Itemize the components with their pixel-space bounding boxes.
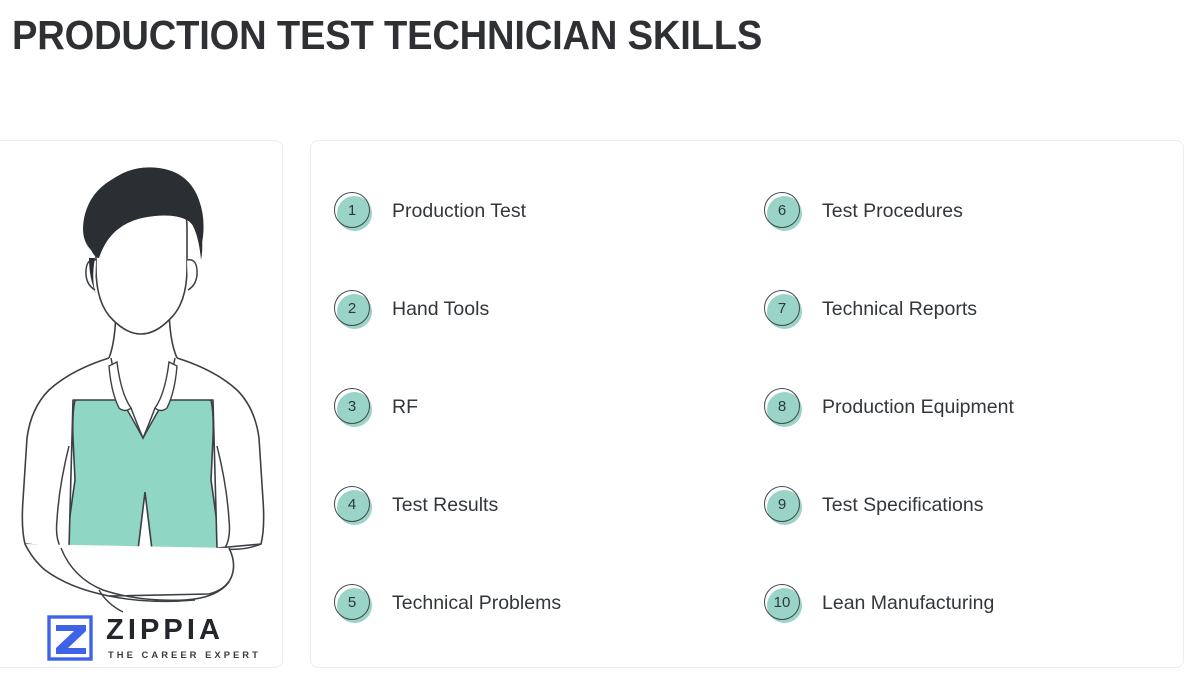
- skill-row: 8 Production Equipment: [762, 386, 1014, 430]
- zippia-wordmark: ZIPPIA: [106, 616, 261, 645]
- badge-number: 9: [764, 486, 800, 522]
- badge-number: 2: [334, 290, 370, 326]
- page-title: PRODUCTION TEST TECHNICIAN SKILLS: [12, 14, 762, 57]
- skill-row: 4 Test Results: [332, 484, 498, 528]
- zippia-logo-text: ZIPPIA THE CAREER EXPERT: [106, 616, 261, 659]
- badge-number: 3: [334, 388, 370, 424]
- skill-label: RF: [392, 396, 418, 419]
- skill-number-badge: 6: [762, 190, 806, 234]
- skill-label: Production Test: [392, 200, 526, 223]
- skills-card: 1 Production Test 2 Hand Tools 3 RF: [310, 140, 1184, 668]
- badge-number: 7: [764, 290, 800, 326]
- skill-row: 10 Lean Manufacturing: [762, 582, 994, 626]
- skill-label: Test Procedures: [822, 200, 963, 223]
- skill-row: 7 Technical Reports: [762, 288, 977, 332]
- skill-number-badge: 5: [332, 582, 376, 626]
- zippia-tagline: THE CAREER EXPERT: [108, 650, 261, 659]
- skill-label: Lean Manufacturing: [822, 592, 994, 615]
- infographic-page: PRODUCTION TEST TECHNICIAN SKILLS: [0, 0, 1200, 675]
- illustration-panel: [0, 140, 283, 668]
- skill-number-badge: 10: [762, 582, 806, 626]
- badge-number: 4: [334, 486, 370, 522]
- skill-label: Test Results: [392, 494, 498, 517]
- skill-row: 3 RF: [332, 386, 418, 430]
- skill-number-badge: 4: [332, 484, 376, 528]
- skill-label: Technical Reports: [822, 298, 977, 321]
- skill-label: Technical Problems: [392, 592, 561, 615]
- skill-number-badge: 8: [762, 386, 806, 430]
- skill-number-badge: 9: [762, 484, 806, 528]
- skill-label: Production Equipment: [822, 396, 1014, 419]
- badge-number: 10: [764, 584, 800, 620]
- zippia-z-mark-icon: [44, 612, 96, 664]
- skill-number-badge: 7: [762, 288, 806, 332]
- skill-row: 5 Technical Problems: [332, 582, 561, 626]
- skill-row: 2 Hand Tools: [332, 288, 489, 332]
- badge-number: 6: [764, 192, 800, 228]
- skill-row: 1 Production Test: [332, 190, 526, 234]
- skill-row: 9 Test Specifications: [762, 484, 984, 528]
- zippia-logo[interactable]: ZIPPIA THE CAREER EXPERT: [44, 612, 261, 664]
- skill-number-badge: 1: [332, 190, 376, 234]
- skill-number-badge: 2: [332, 288, 376, 332]
- skill-number-badge: 3: [332, 386, 376, 430]
- badge-number: 1: [334, 192, 370, 228]
- badge-number: 8: [764, 388, 800, 424]
- person-illustration-icon: [0, 108, 283, 638]
- badge-number: 5: [334, 584, 370, 620]
- skill-row: 6 Test Procedures: [762, 190, 963, 234]
- skill-label: Hand Tools: [392, 298, 489, 321]
- skill-label: Test Specifications: [822, 494, 984, 517]
